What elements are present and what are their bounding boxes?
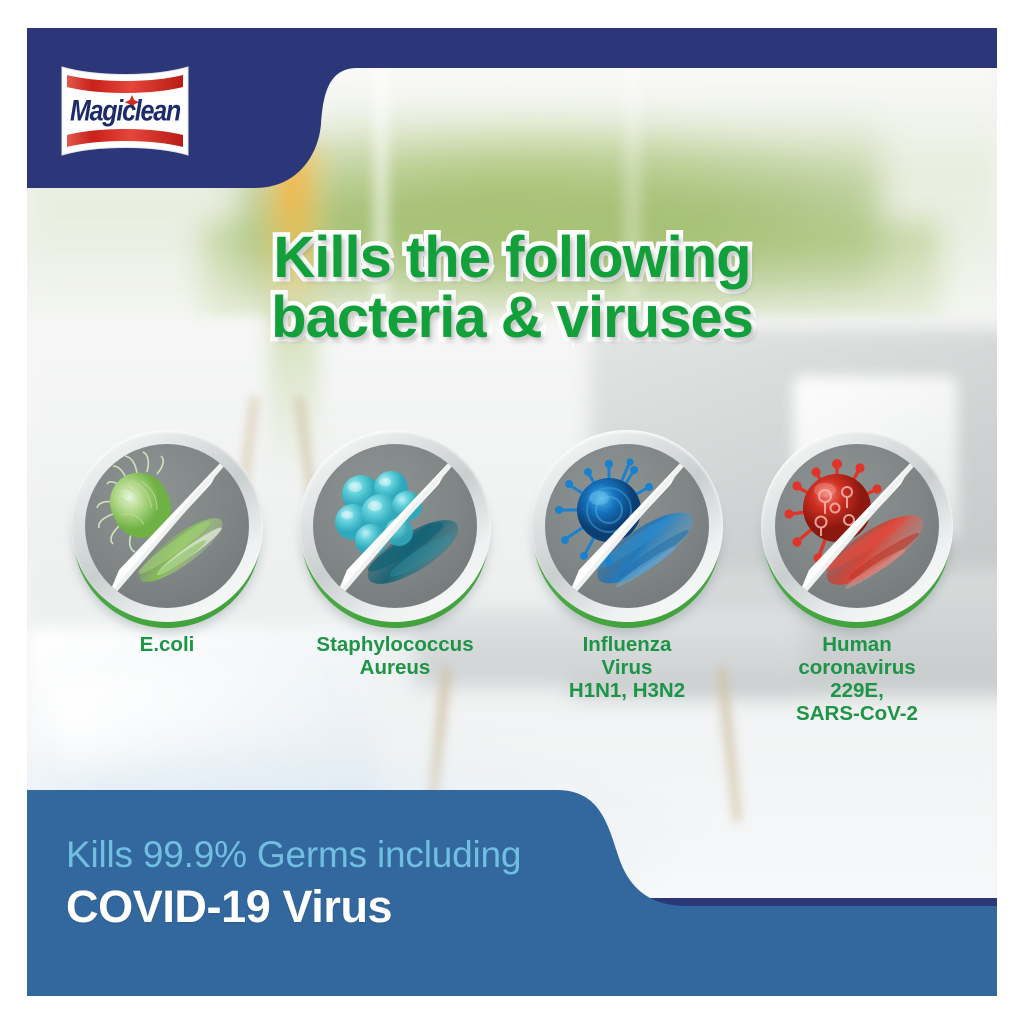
footer-line-1: Kills 99.9% Germs including (66, 834, 766, 875)
frame-top (0, 0, 1024, 28)
germ-disc (545, 444, 709, 608)
germ-list: E.coli (27, 430, 997, 650)
ecoli-bacterium-icon (85, 444, 249, 608)
footer-line-2: COVID-19 Virus (66, 880, 766, 934)
coronavirus-icon (775, 444, 939, 608)
germ-disc (313, 444, 477, 608)
germ-disc (775, 444, 939, 608)
germ-label: Staphylococcus Aureus (261, 634, 529, 680)
magiclean-logo[interactable]: Magiclean (56, 63, 194, 159)
germ-label: Human coronavirus 229E, SARS-CoV-2 (723, 634, 991, 726)
germ-card-coronavirus[interactable]: Human coronavirus 229E, SARS-CoV-2 (761, 430, 953, 622)
headline-line-1: Kills the following (0, 228, 1024, 288)
staphylococcus-cluster-icon (313, 444, 477, 608)
influenza-virus-icon (545, 444, 709, 608)
headline-line-2: bacteria & viruses (0, 288, 1024, 348)
logo-wordmark: Magiclean (56, 54, 194, 167)
poster-root: Magiclean Kills the following bacteria &… (0, 0, 1024, 1024)
germ-card-staph[interactable]: Staphylococcus Aureus (299, 430, 491, 622)
frame-left (0, 0, 27, 1024)
footer-text: Kills 99.9% Germs including COVID-19 Vir… (66, 834, 766, 934)
germ-label: Influenza Virus H1N1, H3N2 (493, 634, 761, 703)
page-title: Kills the following bacteria & viruses (0, 228, 1024, 349)
germ-card-influenza[interactable]: Influenza Virus H1N1, H3N2 (531, 430, 723, 622)
germ-disc (85, 444, 249, 608)
frame-bottom (0, 996, 1024, 1024)
frame-right (997, 0, 1024, 1024)
germ-card-ecoli[interactable]: E.coli (71, 430, 263, 622)
